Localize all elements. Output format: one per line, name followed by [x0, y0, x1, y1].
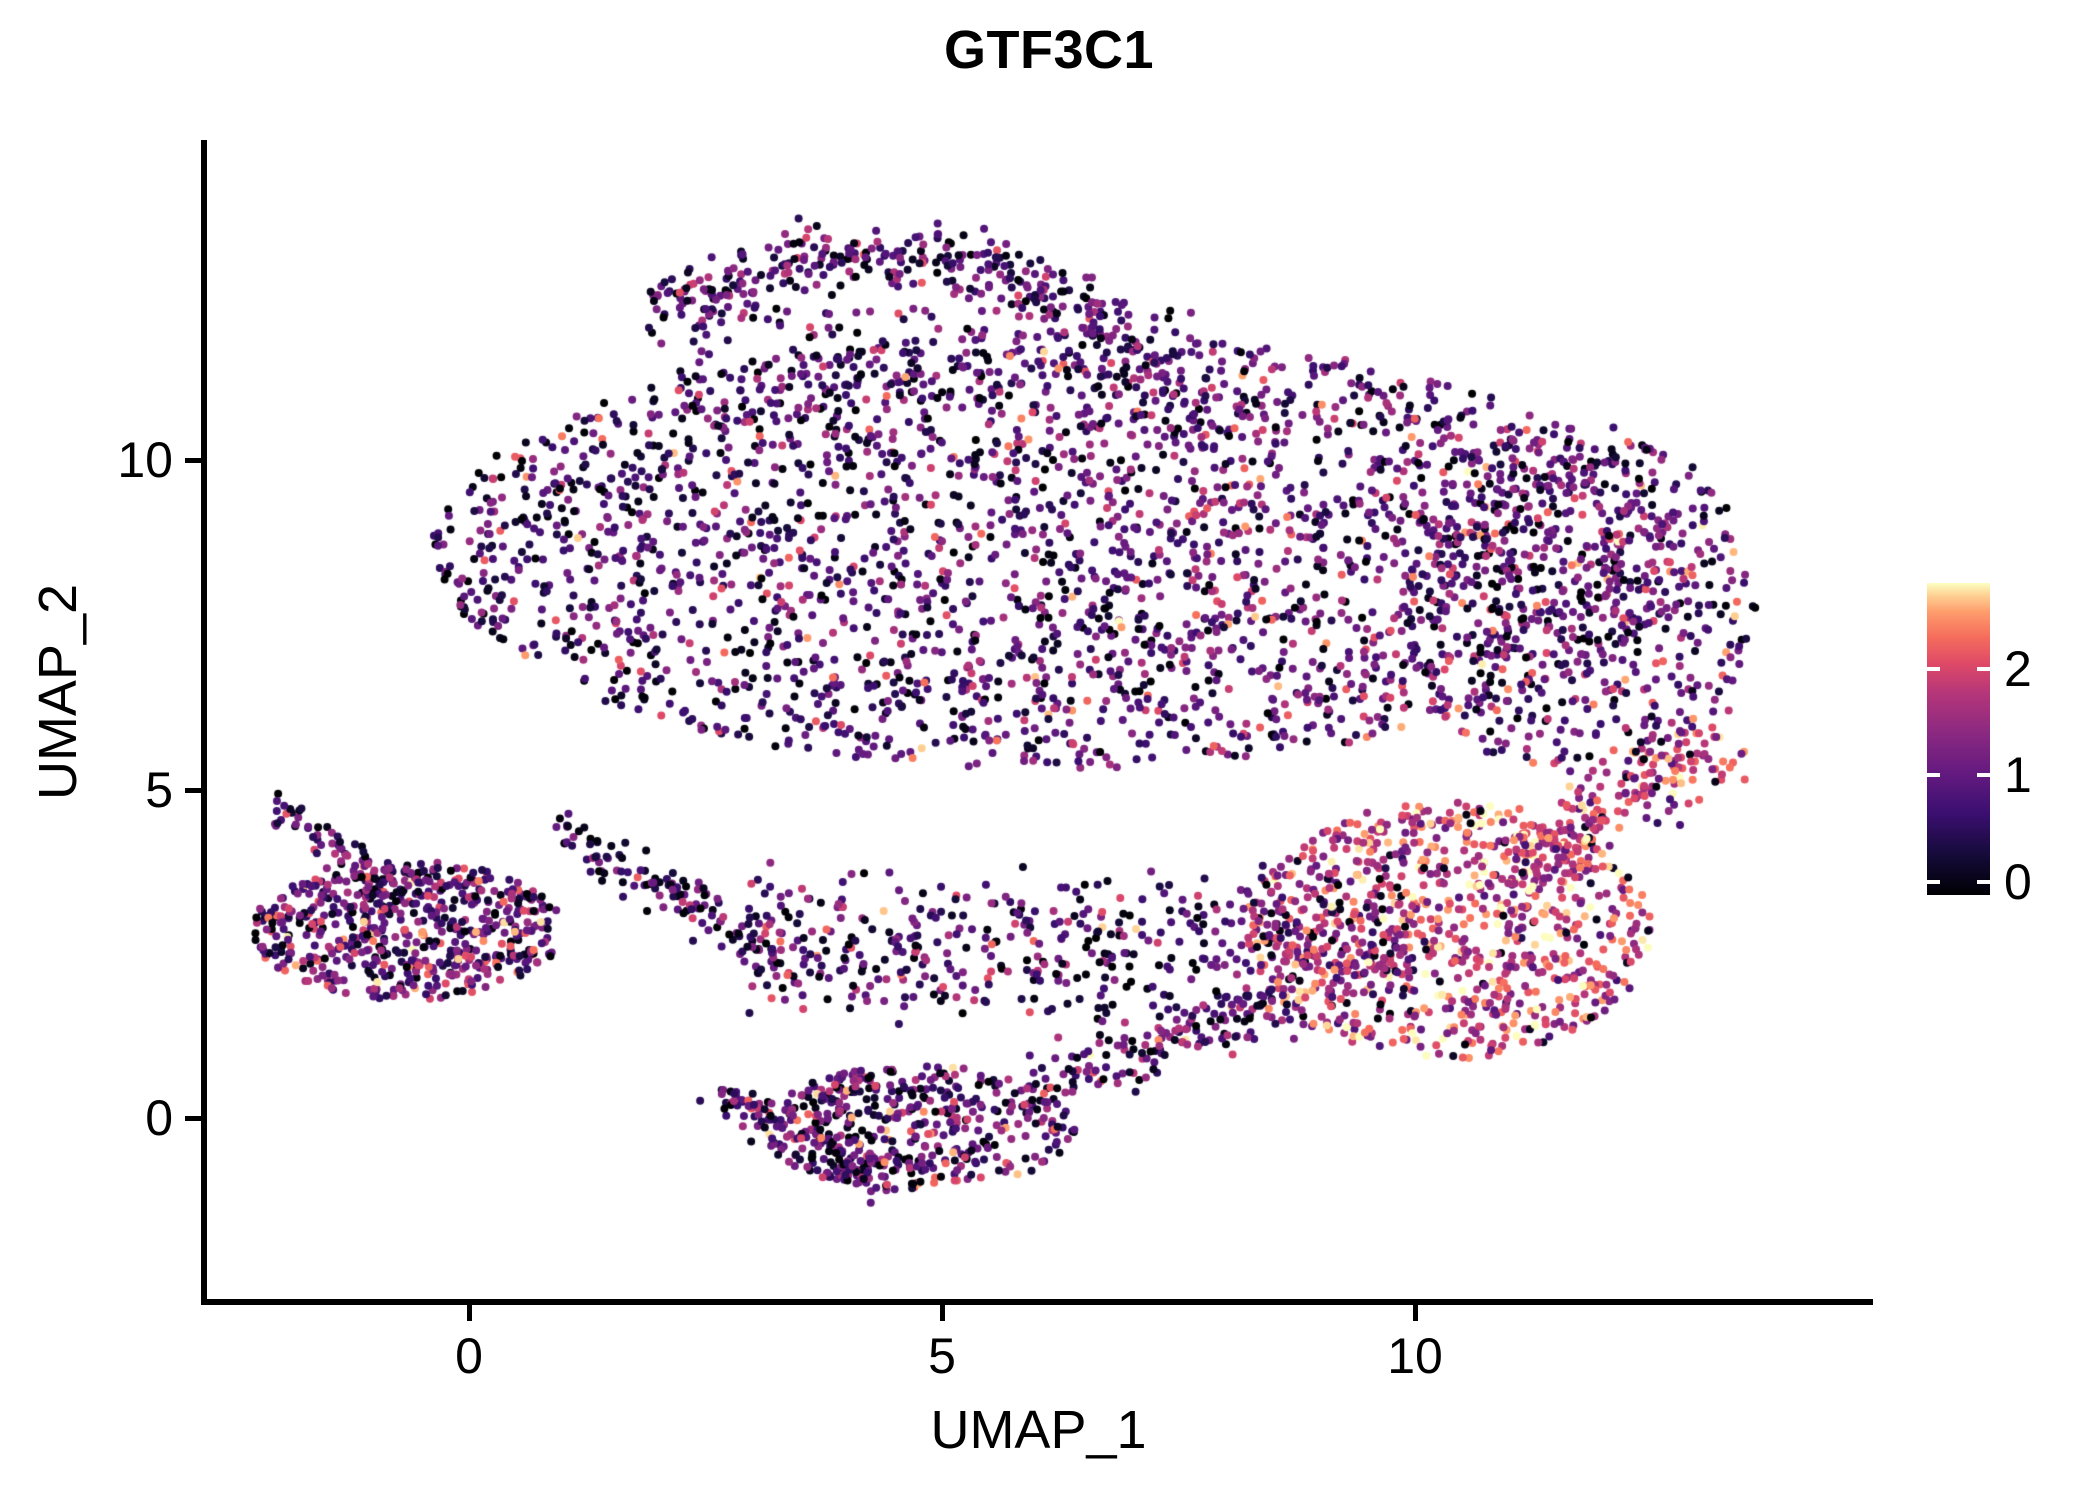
- colorbar-tick-1-left: [1927, 773, 1940, 777]
- y-axis-title: UMAP_2: [26, 342, 90, 1042]
- x-tick-label-10: 10: [1315, 1327, 1515, 1385]
- colorbar-tick-0-left: [1927, 880, 1940, 884]
- y-tick-mark-10: [185, 458, 201, 463]
- scatter-points-layer: [204, 140, 1873, 1302]
- colorbar-tick-2-left: [1927, 667, 1940, 671]
- y-tick-mark-0: [185, 1116, 201, 1121]
- colorbar-label-2: 2: [2004, 640, 2032, 698]
- y-axis-line: [201, 140, 207, 1305]
- x-axis-line: [201, 1299, 1873, 1305]
- colorbar-label-0: 0: [2004, 853, 2032, 911]
- chart-page: GTF3C1 0 5 10 10 5 0 UMAP_1 UMAP_2 2 1 0: [0, 0, 2100, 1500]
- x-tick-label-5: 5: [842, 1327, 1042, 1385]
- x-axis-title: UMAP_1: [204, 1398, 1873, 1462]
- scatter-plot-panel: [204, 140, 1873, 1302]
- x-tick-mark-0: [467, 1305, 472, 1321]
- colorbar-tick-1-right: [1977, 773, 1990, 777]
- colorbar-gradient: [1927, 583, 1990, 895]
- y-tick-mark-5: [185, 788, 201, 793]
- x-tick-mark-5: [940, 1305, 945, 1321]
- colorbar-label-1: 1: [2004, 746, 2032, 804]
- page-title: GTF3C1: [204, 18, 1894, 82]
- x-tick-mark-10: [1413, 1305, 1418, 1321]
- x-tick-label-0: 0: [369, 1327, 569, 1385]
- y-tick-label-0: 0: [0, 1089, 173, 1147]
- color-legend: 2 1 0: [1920, 575, 2095, 905]
- colorbar-tick-0-right: [1977, 880, 1990, 884]
- colorbar-tick-2-right: [1977, 667, 1990, 671]
